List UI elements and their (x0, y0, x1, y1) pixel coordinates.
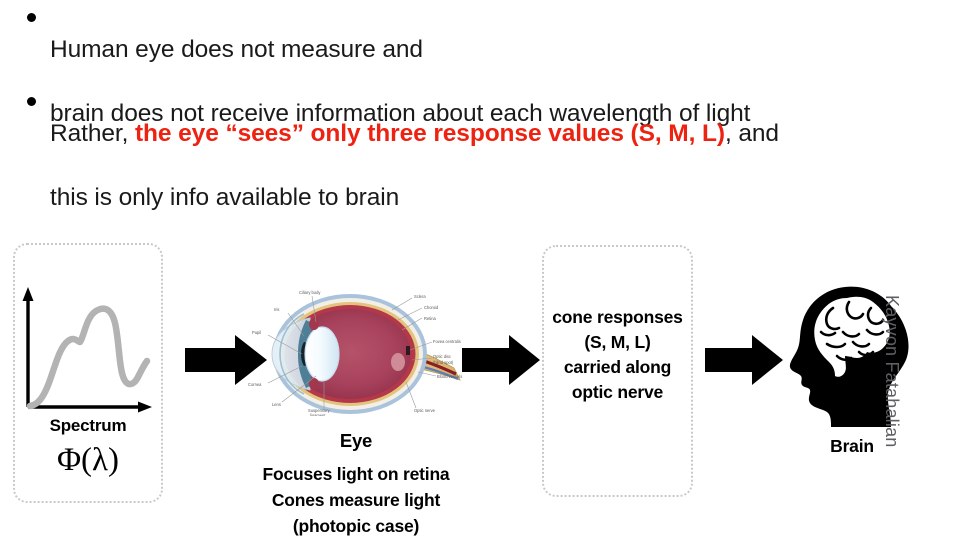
anatomy-label-lens: Lens (272, 402, 281, 407)
optic-disc-marker (406, 346, 410, 355)
anatomy-label-pupil: Pupil (252, 330, 261, 335)
eye-caption-line-1: Focuses light on retina (240, 461, 472, 487)
vision-pipeline-diagram: Spectrum Φ(λ) (0, 0, 960, 552)
anatomy-label-optic-disc-2: (blind spot) (433, 360, 454, 365)
eye-caption-line-3: (photopic case) (240, 513, 472, 539)
eye-caption-line-2: Cones measure light (240, 487, 472, 513)
anatomy-label-suspensory-2: ligament (310, 413, 326, 416)
spectrum-label: Spectrum (13, 416, 163, 436)
eye-anatomy-figure: Ciliary body Iris Pupil Cornea Lens Susp… (246, 280, 468, 416)
cone-text-line-4: optic nerve (542, 380, 693, 405)
cone-response-text: cone responses (S, M, L) carried along o… (542, 305, 693, 405)
cone-text-line-1: cone responses (542, 305, 693, 330)
ciliary-body-bottom (309, 378, 319, 390)
eye-stage-caption: Eye Focuses light on retina Cones measur… (240, 428, 472, 539)
arrow-right-icon (705, 334, 783, 386)
attribution-credit: Kayvon Fatahalian (881, 295, 902, 515)
ciliary-body-top (309, 318, 319, 330)
anatomy-label-blood-vessels: Blood vessels (437, 374, 462, 379)
anatomy-label-optic-disc-1: Optic disc (433, 354, 451, 359)
cone-text-line-3: carried along (542, 355, 693, 380)
anatomy-label-choroid: Choroid (424, 305, 439, 310)
anatomy-label-cornea: Cornea (248, 382, 262, 387)
anatomy-label-iris: Iris (274, 307, 279, 312)
lens-shape (305, 327, 339, 381)
anatomy-label-sclera: Sclera (414, 294, 426, 299)
anatomy-label-retina: Retina (424, 316, 437, 321)
spectrum-plot (20, 285, 155, 413)
spectrum-y-axis-arrowhead (23, 287, 34, 301)
anatomy-label-fovea: Fovea centralis (433, 339, 461, 344)
spectrum-curve (30, 309, 147, 406)
anatomy-label-optic-nerve: Optic nerve (414, 408, 436, 413)
eye-stage-title: Eye (240, 428, 472, 454)
cone-text-line-2: (S, M, L) (542, 330, 693, 355)
spectrum-x-axis-arrowhead (138, 402, 152, 413)
anatomy-label-ciliary-body: Ciliary body (299, 290, 321, 295)
spectrum-formula: Φ(λ) (13, 443, 163, 477)
arrow-right-icon (462, 334, 540, 386)
fovea-marker (391, 353, 405, 371)
